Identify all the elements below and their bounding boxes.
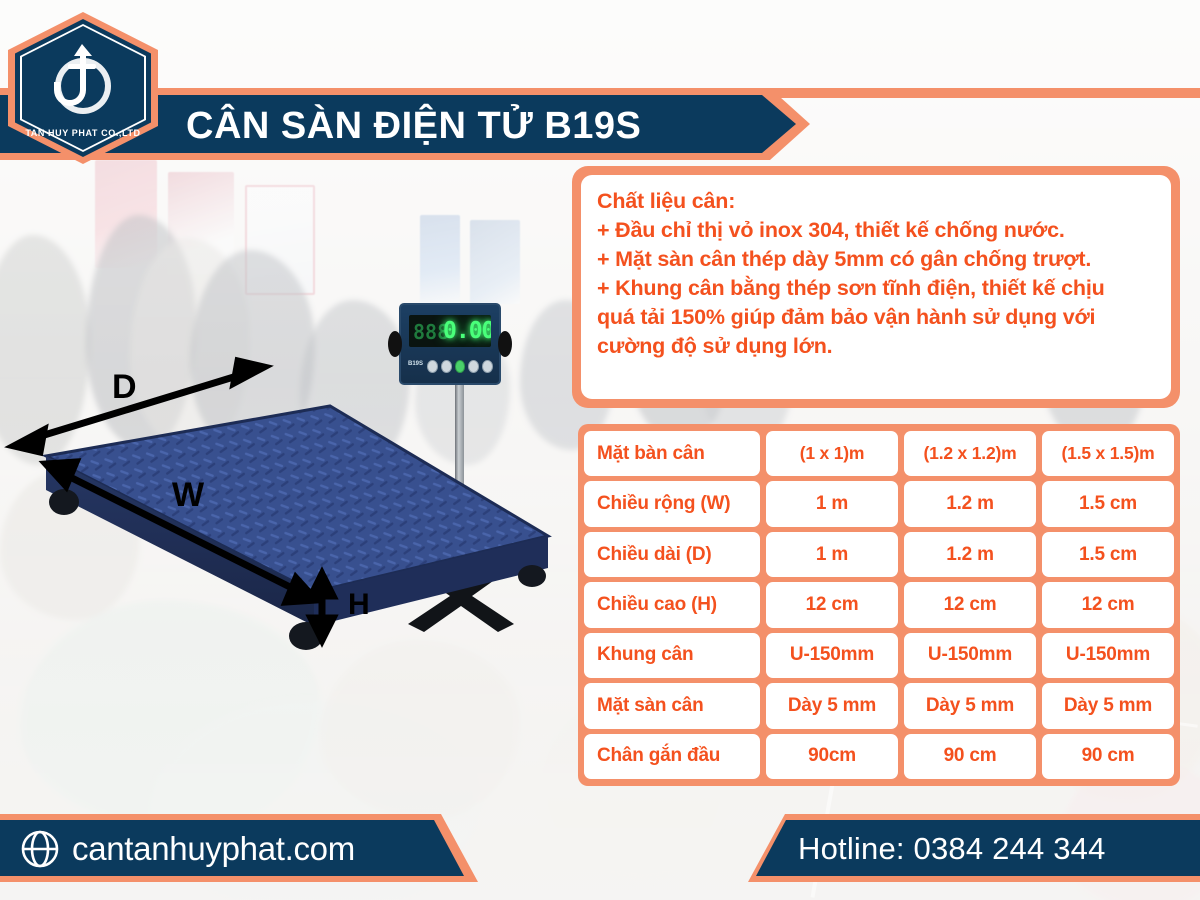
anchor-hook-logo-icon — [38, 38, 128, 124]
table-cell: U-150mm — [766, 633, 898, 678]
table-cell: 1.2 m — [904, 532, 1036, 577]
table-cell: 90cm — [766, 734, 898, 779]
table-row: Mặt sàn cân Dày 5 mm Dày 5 mm Dày 5 mm — [584, 683, 1174, 728]
table-row: Chân gắn đầu 90cm 90 cm 90 cm — [584, 734, 1174, 779]
table-cell: 1 m — [766, 481, 898, 526]
globe-icon — [20, 829, 60, 869]
table-row-label: Mặt bàn cân — [584, 431, 760, 476]
table-cell: (1 x 1)m — [766, 431, 898, 476]
dimension-label-height: H — [348, 590, 370, 620]
table-cell: Dày 5 mm — [904, 683, 1036, 728]
table-row-label: Chiều rộng (W) — [584, 481, 760, 526]
description-line: cường độ sử dụng lớn. — [597, 332, 1155, 361]
table-cell: 90 cm — [904, 734, 1036, 779]
table-row-label: Khung cân — [584, 633, 760, 678]
table-row: Chiều cao (H) 12 cm 12 cm 12 cm — [584, 582, 1174, 627]
table-cell: 12 cm — [1042, 582, 1174, 627]
page-title: CÂN SÀN ĐIỆN TỬ B19S — [186, 104, 746, 148]
table-cell: U-150mm — [904, 633, 1036, 678]
description-card: Chất liệu cân: + Đầu chỉ thị vỏ inox 304… — [572, 166, 1180, 408]
table-cell: Dày 5 mm — [766, 683, 898, 728]
table-row-label: Chiều cao (H) — [584, 582, 760, 627]
table-cell: 12 cm — [766, 582, 898, 627]
logo-company-name: TAN HUY PHAT CO.,LTD — [8, 128, 158, 138]
description-card-inner: Chất liệu cân: + Đầu chỉ thị vỏ inox 304… — [581, 175, 1171, 399]
floor-scale-platform — [0, 330, 560, 670]
footer-website[interactable]: cantanhuyphat.com — [20, 828, 355, 870]
table-cell: U-150mm — [1042, 633, 1174, 678]
table-row: Chiều rộng (W) 1 m 1.2 m 1.5 cm — [584, 481, 1174, 526]
description-line: + Mặt sàn cân thép dày 5mm có gân chống … — [597, 245, 1155, 274]
table-row-label: Chiều dài (D) — [584, 532, 760, 577]
table-cell: 1.5 cm — [1042, 481, 1174, 526]
table-cell: 90 cm — [1042, 734, 1174, 779]
specification-table: Mặt bàn cân (1 x 1)m (1.2 x 1.2)m (1.5 x… — [578, 424, 1180, 786]
table-cell: 1.2 m — [904, 481, 1036, 526]
footer-website-text: cantanhuyphat.com — [72, 830, 355, 868]
table-row: Khung cân U-150mm U-150mm U-150mm — [584, 633, 1174, 678]
table-cell: Dày 5 mm — [1042, 683, 1174, 728]
table-row: Chiều dài (D) 1 m 1.2 m 1.5 cm — [584, 532, 1174, 577]
dimension-label-width: W — [172, 478, 204, 512]
table-cell: (1.5 x 1.5)m — [1042, 431, 1174, 476]
footer-hotline-text[interactable]: Hotline: 0384 244 344 — [798, 828, 1106, 870]
table-cell: 1 m — [766, 532, 898, 577]
table-row-label: Chân gắn đầu — [584, 734, 760, 779]
description-line: + Khung cân bằng thép sơn tĩnh điện, thi… — [597, 274, 1155, 303]
table-cell: 1.5 cm — [1042, 532, 1174, 577]
description-line: + Đầu chỉ thị vỏ inox 304, thiết kế chốn… — [597, 216, 1155, 245]
table-row-label: Mặt sàn cân — [584, 683, 760, 728]
infographic-page: CÂN SÀN ĐIỆN TỬ B19S TAN HUY PHAT CO.,LT… — [0, 0, 1200, 900]
table-row: Mặt bàn cân (1 x 1)m (1.2 x 1.2)m (1.5 x… — [584, 431, 1174, 476]
description-line: quá tải 150% giúp đảm bảo vận hành sử dụ… — [597, 303, 1155, 332]
table-cell: (1.2 x 1.2)m — [904, 431, 1036, 476]
description-line: Chất liệu cân: — [597, 187, 1155, 216]
table-cell: 12 cm — [904, 582, 1036, 627]
company-logo: TAN HUY PHAT CO.,LTD — [8, 12, 158, 164]
dimension-label-depth: D — [112, 370, 137, 404]
